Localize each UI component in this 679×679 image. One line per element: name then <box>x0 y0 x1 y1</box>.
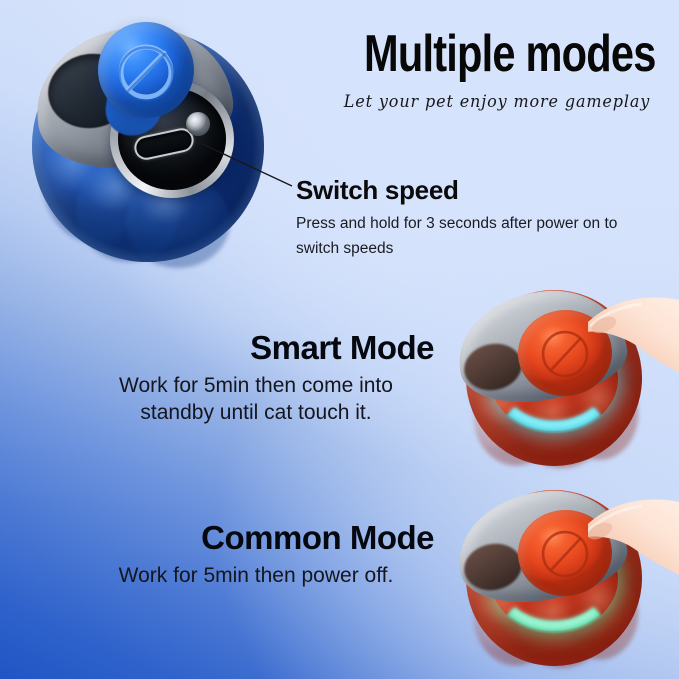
product-image-red-ball-smart <box>452 282 652 477</box>
power-icon <box>515 507 615 599</box>
product-image-blue-ball <box>14 8 286 280</box>
mode-body-common: Work for 5min then power off. <box>78 562 434 589</box>
page-title: Multiple modes <box>364 26 636 82</box>
product-image-red-ball-common <box>452 482 652 677</box>
mode-block-smart: Smart Mode Work for 5min then come into … <box>78 328 434 426</box>
mode-body-smart: Work for 5min then come into standby unt… <box>78 372 434 426</box>
power-button <box>515 307 615 399</box>
callout-body-switch-speed: Press and hold for 3 seconds after power… <box>296 211 646 261</box>
blue-silicone-cap <box>98 22 194 118</box>
callout-title-switch-speed: Switch speed <box>296 175 459 206</box>
mode-block-common: Common Mode Work for 5min then power off… <box>78 518 434 589</box>
page-subtitle: Let your pet enjoy more gameplay <box>327 92 667 111</box>
infographic-canvas: Multiple modes Let your pet enjoy more g… <box>0 0 679 679</box>
power-icon <box>98 22 194 118</box>
power-icon <box>515 307 615 399</box>
power-button <box>515 507 615 599</box>
mode-title-common: Common Mode <box>78 518 434 558</box>
mode-title-smart: Smart Mode <box>78 328 434 368</box>
